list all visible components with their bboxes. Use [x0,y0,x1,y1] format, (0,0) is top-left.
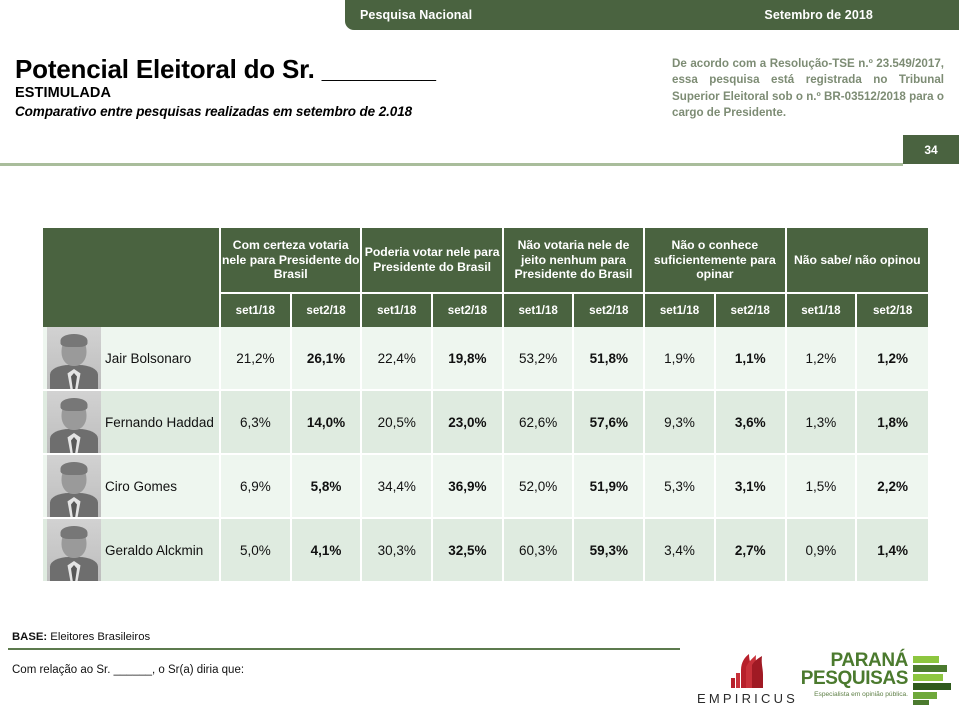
cell-value: 59,3% [574,519,645,581]
table-row: Ciro Gomes 6,9% 5,8% 34,4% 36,9% 52,0% 5… [43,455,928,519]
cell-value: 1,5% [787,455,858,519]
candidate-photo-cell [43,455,105,519]
cell-value: 6,9% [221,455,292,519]
candidate-name: Fernando Haddad [105,391,221,455]
cell-value: 5,3% [645,455,716,519]
table-row: Jair Bolsonaro 21,2% 26,1% 22,4% 19,8% 5… [43,327,928,391]
subheader-set1-g2: set1/18 [362,294,433,327]
footer-base-value: Eleitores Brasileiros [47,631,150,643]
cell-value: 20,5% [362,391,433,455]
title-block: Potencial Eleitoral do Sr. ________ ESTI… [15,55,436,119]
cell-value: 5,8% [292,455,363,519]
cell-value: 4,1% [292,519,363,581]
cell-value: 6,3% [221,391,292,455]
table-group-header-row: Com certeza votaria nele para Presidente… [43,228,928,294]
parana-tagline: Especialista em opinião pública. [800,691,908,698]
candidate-name: Geraldo Alckmin [105,519,221,581]
table-header: Com certeza votaria nele para Presidente… [43,228,928,327]
empiricus-flame-icon [697,654,793,690]
column-group-would-not-vote: Não votaria nele de jeito nenhum para Pr… [504,228,645,294]
subheader-set2-g5: set2/18 [857,294,928,327]
cell-value: 5,0% [221,519,292,581]
cell-value: 51,8% [574,327,645,391]
column-group-could-vote: Poderia votar nele para Presidente do Br… [362,228,503,294]
candidate-name: Jair Bolsonaro [105,327,221,391]
column-group-dont-know: Não sabe/ não opinou [787,228,928,294]
subheader-set2-g4: set2/18 [716,294,787,327]
flame-icon [697,654,793,690]
subheader-set2-g3: set2/18 [574,294,645,327]
subheader-set2-g2: set2/18 [433,294,504,327]
banner-date-label: Setembro de 2018 [764,8,873,22]
cell-value: 23,0% [433,391,504,455]
cell-value: 60,3% [504,519,575,581]
cell-value: 21,2% [221,327,292,391]
cell-value: 34,4% [362,455,433,519]
candidate-avatar [47,519,101,581]
candidate-avatar [47,391,101,453]
candidate-avatar [47,455,101,517]
cell-value: 1,1% [716,327,787,391]
candidate-name: Ciro Gomes [105,455,221,519]
header-blank-corner [43,228,221,294]
subheader-set1-g3: set1/18 [504,294,575,327]
subheader-blank-corner [43,294,221,327]
candidate-photo-cell [43,519,105,581]
table-row: Geraldo Alckmin 5,0% 4,1% 30,3% 32,5% 60… [43,519,928,581]
cell-value: 9,3% [645,391,716,455]
cell-value: 22,4% [362,327,433,391]
cell-value: 62,6% [504,391,575,455]
poll-results-table: Com certeza votaria nele para Presidente… [43,228,928,581]
table-row: Fernando Haddad 6,3% 14,0% 20,5% 23,0% 6… [43,391,928,455]
table-subheader-row: set1/18 set2/18 set1/18 set2/18 set1/18 … [43,294,928,327]
parana-pesquisas-logo: PARANÁ PESQUISAS Especialista em opinião… [800,652,955,710]
column-group-not-known-enough: Não o conhece suficientemente para opina… [645,228,786,294]
parana-wordmark: PARANÁ PESQUISAS Especialista em opinião… [800,652,908,698]
cell-value: 53,2% [504,327,575,391]
footer-base-label: BASE: [12,631,47,643]
parana-line2: PESQUISAS [800,670,908,688]
cell-value: 1,9% [645,327,716,391]
candidate-avatar [47,327,101,389]
cell-value: 1,8% [857,391,928,455]
footer-question: Com relação ao Sr. ______, o Sr(a) diria… [12,664,244,676]
column-group-certainly-vote: Com certeza votaria nele para Presidente… [221,228,362,294]
page-tagline: Comparativo entre pesquisas realizadas e… [15,104,436,119]
table-body: Jair Bolsonaro 21,2% 26,1% 22,4% 19,8% 5… [43,327,928,581]
subheader-set1-g1: set1/18 [221,294,292,327]
cell-value: 1,2% [857,327,928,391]
cell-value: 3,4% [645,519,716,581]
parana-bars-icon [911,654,955,706]
subheader-set2-g1: set2/18 [292,294,363,327]
cell-value: 57,6% [574,391,645,455]
cell-value: 32,5% [433,519,504,581]
footer-divider [8,648,680,650]
page-number-badge: 34 [903,135,959,164]
cell-value: 1,2% [787,327,858,391]
subheader-set1-g4: set1/18 [645,294,716,327]
cell-value: 3,1% [716,455,787,519]
cell-value: 2,7% [716,519,787,581]
empiricus-wordmark: EMPIRICUS [697,691,793,706]
cell-value: 14,0% [292,391,363,455]
subheader-set1-g5: set1/18 [787,294,858,327]
top-banner: Pesquisa Nacional Setembro de 2018 [345,0,959,30]
page-title: Potencial Eleitoral do Sr. ________ [15,55,436,83]
cell-value: 30,3% [362,519,433,581]
header-divider [0,163,903,166]
cell-value: 51,9% [574,455,645,519]
cell-value: 0,9% [787,519,858,581]
cell-value: 52,0% [504,455,575,519]
cell-value: 3,6% [716,391,787,455]
empiricus-logo: EMPIRICUS [697,654,793,708]
cell-value: 2,2% [857,455,928,519]
cell-value: 26,1% [292,327,363,391]
cell-value: 19,8% [433,327,504,391]
candidate-photo-cell [43,391,105,455]
page-subtitle: ESTIMULADA [15,85,436,101]
cell-value: 36,9% [433,455,504,519]
banner-survey-label: Pesquisa Nacional [360,8,472,22]
cell-value: 1,4% [857,519,928,581]
legal-registration-note: De acordo com a Resolução-TSE n.º 23.549… [672,56,944,122]
cell-value: 1,3% [787,391,858,455]
footer-base: BASE: Eleitores Brasileiros [12,631,150,643]
candidate-photo-cell [43,327,105,391]
